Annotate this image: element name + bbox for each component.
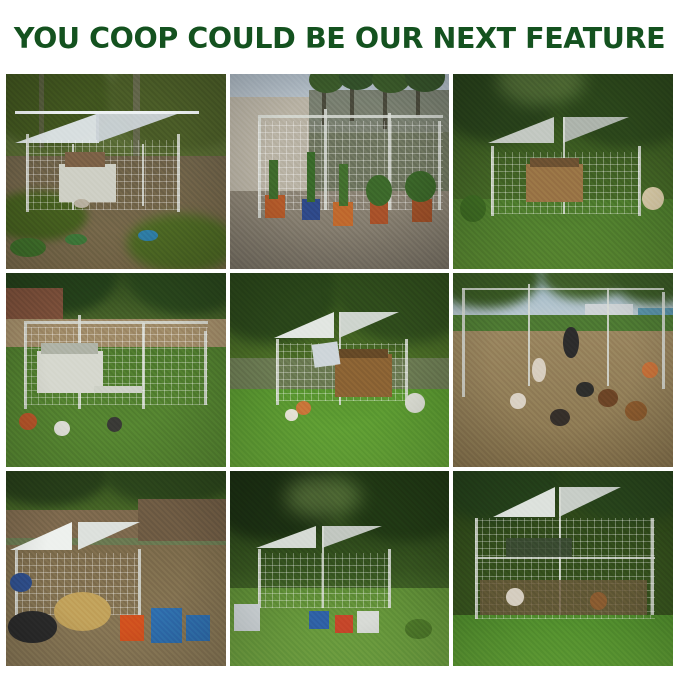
photo-tile-8[interactable]: Walk-in metal run frame on grass under l… [230, 471, 450, 666]
photo-1-image [6, 74, 226, 269]
photo-tile-3[interactable]: Large silver walk-in chicken run with gr… [453, 74, 673, 269]
photo-tile-6[interactable]: Large open-top chicken enclosure with ba… [453, 273, 673, 468]
photo-tile-1[interactable]: Metal chicken coop with white canopy roo… [6, 74, 226, 269]
photo-tile-7[interactable]: Metal coop with white tarp roof next to … [6, 471, 226, 666]
photo-8-image [230, 471, 450, 666]
photo-3-image [453, 74, 673, 269]
promo-collage: YOU COOP COULD BE OUR NEXT FEATURE [0, 0, 679, 679]
photo-5-image [230, 273, 450, 468]
photo-tile-4[interactable]: Open metal chicken run with white coop a… [6, 273, 226, 468]
photo-9-image [453, 471, 673, 666]
photo-tile-9[interactable]: Tall peaked metal chicken coop with mesh… [453, 471, 673, 666]
photo-6-image [453, 273, 673, 468]
photo-grid: Metal chicken coop with white canopy roo… [6, 74, 673, 666]
page-title: YOU COOP COULD BE OUR NEXT FEATURE [0, 22, 679, 55]
photo-7-image [6, 471, 226, 666]
photo-tile-2[interactable]: Walk-in hoop-style greenhouse frame with… [230, 74, 450, 269]
photo-2-image [230, 74, 450, 269]
photo-4-image [6, 273, 226, 468]
photo-tile-5[interactable]: Metal frame coop with clear cover over a… [230, 273, 450, 468]
